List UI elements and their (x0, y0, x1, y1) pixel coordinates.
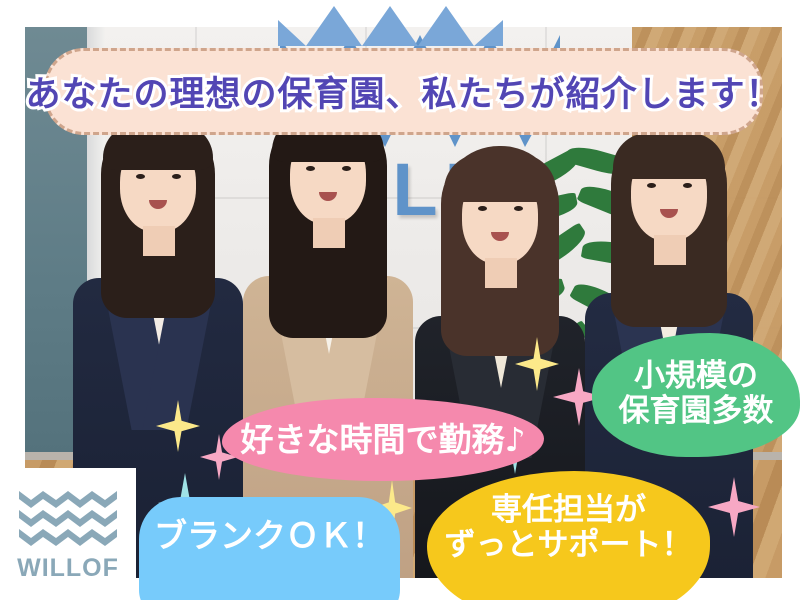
brand-logo-card: WILLOF (0, 468, 136, 600)
bubble-blank-ok: ブランクＯＫ！ (139, 497, 400, 600)
bubble-blue-line-1: ブランクＯＫ！ (154, 517, 385, 555)
willof-zigzag-icon (19, 486, 117, 548)
bubble-pink-line-1: 好きな時間で勤務♪ (240, 421, 525, 459)
headline-text: あなたの理想の保育園、私たちが紹介します！ (26, 66, 782, 117)
bubble-flexible-hours: 好きな時間で勤務♪ (222, 398, 544, 481)
bubble-green-line-2: 保育園多数 (619, 394, 774, 429)
top-zigzag-icon (278, 0, 503, 46)
bubble-green-line-1: 小規模の (619, 359, 774, 394)
bubble-yellow-line-1: 専任担当が (445, 493, 693, 528)
bubble-small-nurseries: 小規模の 保育園多数 (592, 333, 800, 457)
headline-banner: あなたの理想の保育園、私たちが紹介します！ (44, 48, 763, 135)
bubble-yellow-line-2: ずっとサポート！ (445, 528, 693, 563)
willof-wordmark: WILLOF (17, 554, 119, 583)
ad-banner-canvas: WILL (0, 0, 800, 600)
